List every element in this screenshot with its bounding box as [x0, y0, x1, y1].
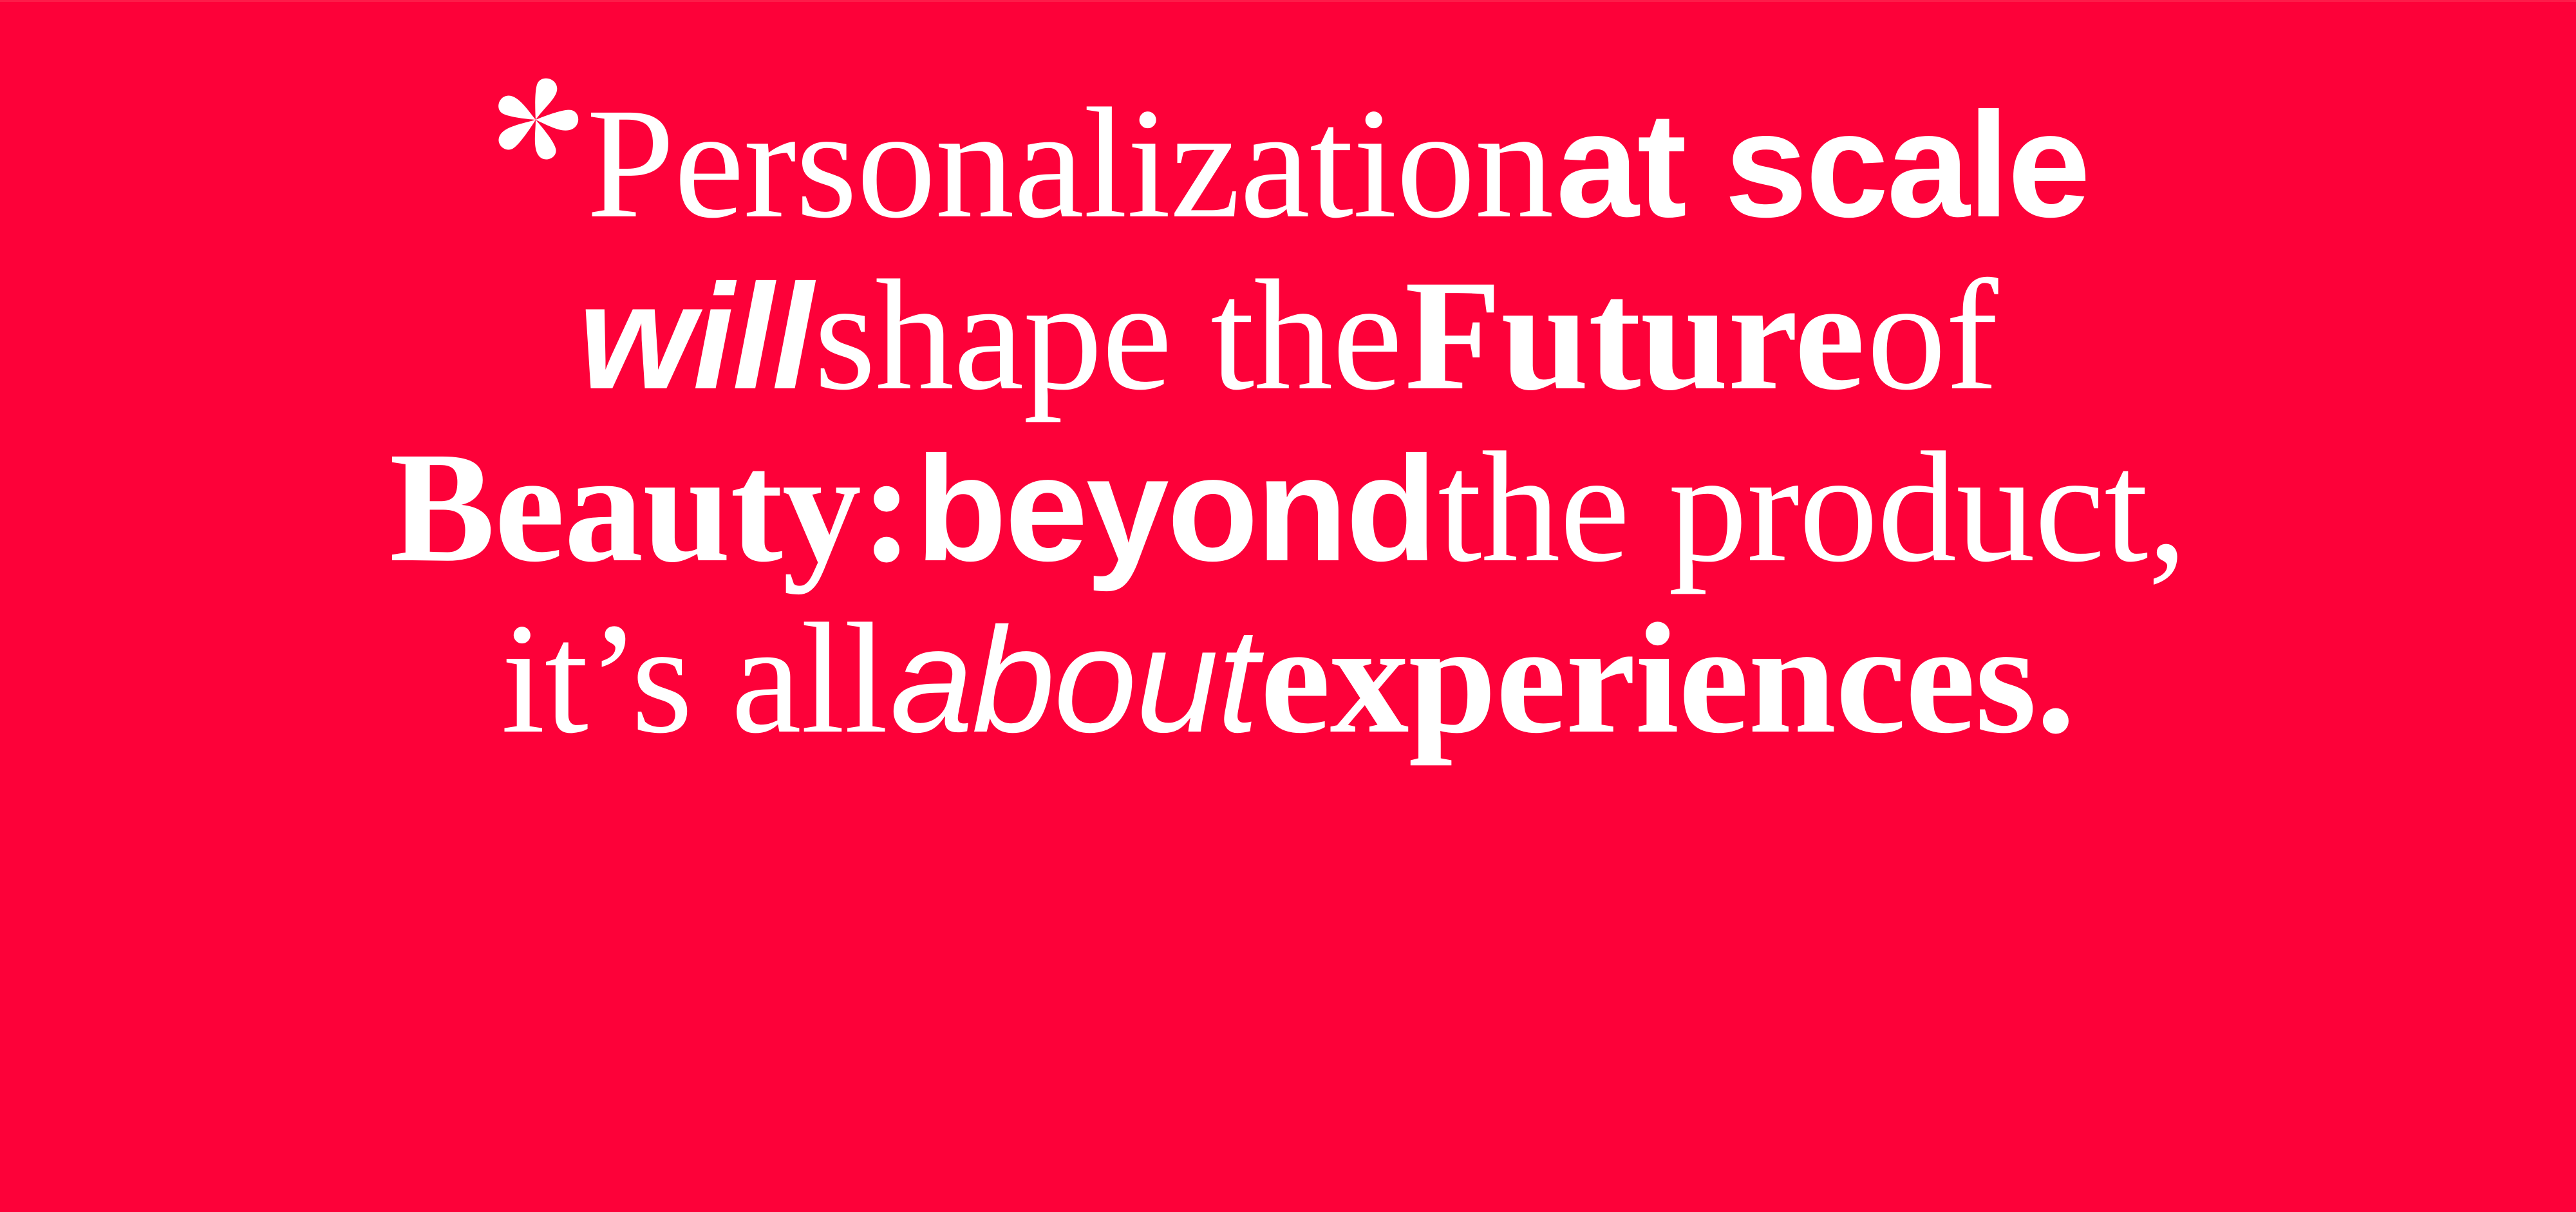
top-edge-hairline [0, 0, 2576, 2]
line-4-segment-about: about [890, 597, 1258, 764]
quote-line-3: Beauty:beyondthe product, [78, 424, 2499, 592]
asterisk-pinwheel-icon [487, 70, 584, 166]
line-4-segment-its-all: it’s all [501, 591, 887, 766]
quote-line-1: Personalizationat scale [78, 70, 2499, 248]
line-4-segment-experiences: experiences. [1260, 591, 2074, 766]
line-3-segment-beyond: beyond [916, 426, 1435, 592]
quote-line-2: willshape theFutureof [78, 252, 2499, 420]
line-2-segment-shape-the: shape the [814, 248, 1402, 423]
pull-quote: Personalizationat scale willshape theFut… [78, 70, 2499, 763]
line-1-segment-personalization: Personalization [587, 76, 1554, 251]
quote-slide: Personalizationat scale willshape theFut… [0, 0, 2576, 1212]
line-2-segment-of: of [1867, 248, 1998, 423]
quote-line-4: it’s allaboutexperiences. [78, 595, 2499, 763]
line-2-segment-will: will [578, 254, 811, 421]
line-1-segment-at-scale: at scale [1556, 82, 2089, 249]
line-2-segment-future: Future [1405, 248, 1865, 423]
line-3-segment-the-product: the product, [1438, 420, 2186, 595]
line-3-segment-beauty: Beauty: [390, 420, 913, 595]
